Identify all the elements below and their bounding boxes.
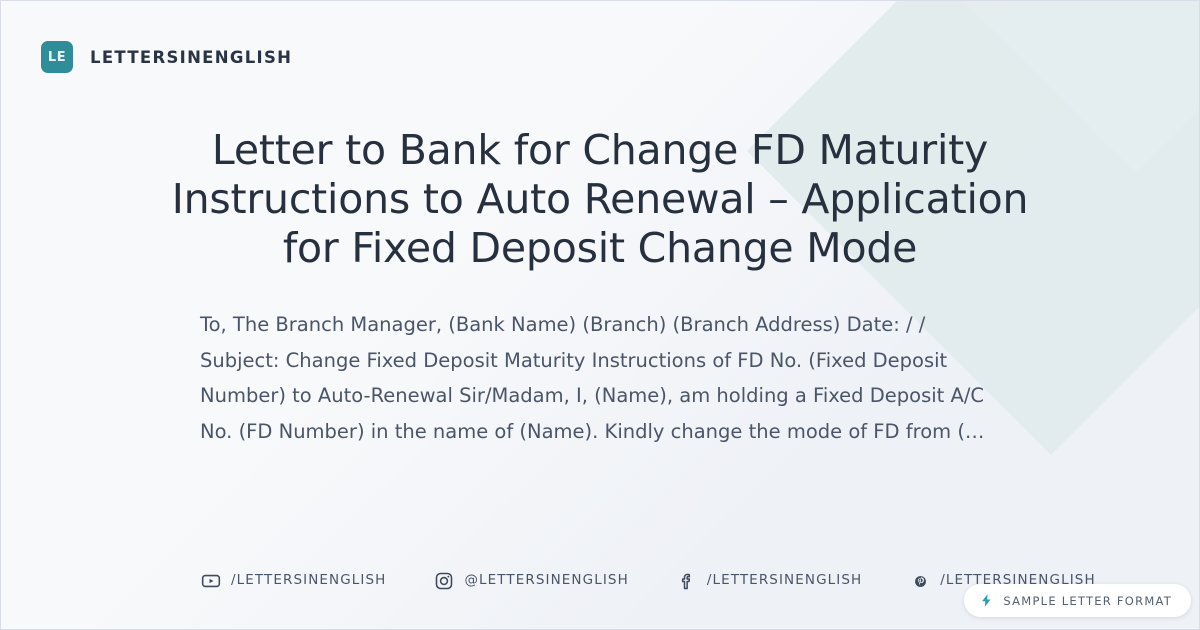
sample-letter-format-label: SAMPLE LETTER FORMAT [1003,594,1172,608]
sample-letter-format-badge[interactable]: SAMPLE LETTER FORMAT [964,584,1191,617]
instagram-icon [434,571,454,591]
brand-badge-icon: LE [41,41,73,73]
pinterest-icon [910,571,930,591]
brand-name: LETTERSINENGLISH [90,48,292,67]
social-link-facebook[interactable]: /LETTERSINENGLISH [677,571,862,591]
social-link-instagram[interactable]: @LETTERSINENGLISH [434,571,628,591]
body-excerpt: To, The Branch Manager, (Bank Name) (Bra… [200,307,1000,449]
social-links-row: /LETTERSINENGLISH @LETTERSINENGLISH /LET… [201,571,1096,591]
social-link-youtube[interactable]: /LETTERSINENGLISH [201,571,386,591]
main-content: Letter to Bank for Change FD Maturity In… [1,126,1199,449]
facebook-icon [677,571,697,591]
lightning-bolt-icon [979,592,994,609]
social-handle: /LETTERSINENGLISH [707,574,862,588]
page-title: Letter to Bank for Change FD Maturity In… [160,126,1040,272]
social-handle: @LETTERSINENGLISH [464,574,628,588]
brand-logo[interactable]: LE LETTERSINENGLISH [41,41,292,73]
social-handle: /LETTERSINENGLISH [231,574,386,588]
youtube-icon [201,571,221,591]
social-share-card: LE LETTERSINENGLISH Letter to Bank for C… [0,0,1200,630]
